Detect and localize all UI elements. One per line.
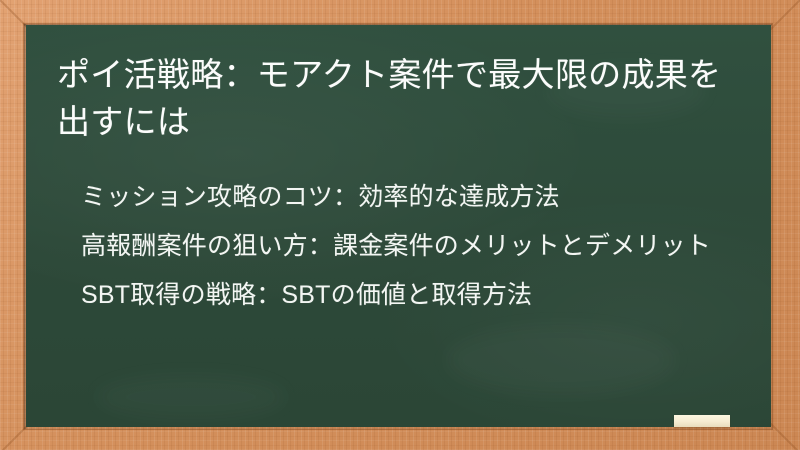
board-topic-list: ミッション攻略のコツ：効率的な達成方法 高報酬案件の狙い方：課金案件のメリットと… (81, 177, 753, 315)
chalk-smudge (96, 375, 286, 419)
chalkboard-surface: ポイ活戦略：モアクト案件で最大限の成果を出すには ミッション攻略のコツ：効率的な… (26, 25, 771, 427)
chalk-stick-icon (674, 415, 730, 427)
list-item: ミッション攻略のコツ：効率的な達成方法 (81, 177, 753, 217)
chalk-smudge (446, 325, 676, 395)
list-item: 高報酬案件の狙い方：課金案件のメリットとデメリット (81, 226, 753, 266)
list-item: SBT取得の戦略：SBTの価値と取得方法 (81, 275, 753, 315)
board-title: ポイ活戦略：モアクト案件で最大限の成果を出すには (57, 51, 747, 145)
chalkboard-figure: ポイ活戦略：モアクト案件で最大限の成果を出すには ミッション攻略のコツ：効率的な… (0, 0, 800, 450)
